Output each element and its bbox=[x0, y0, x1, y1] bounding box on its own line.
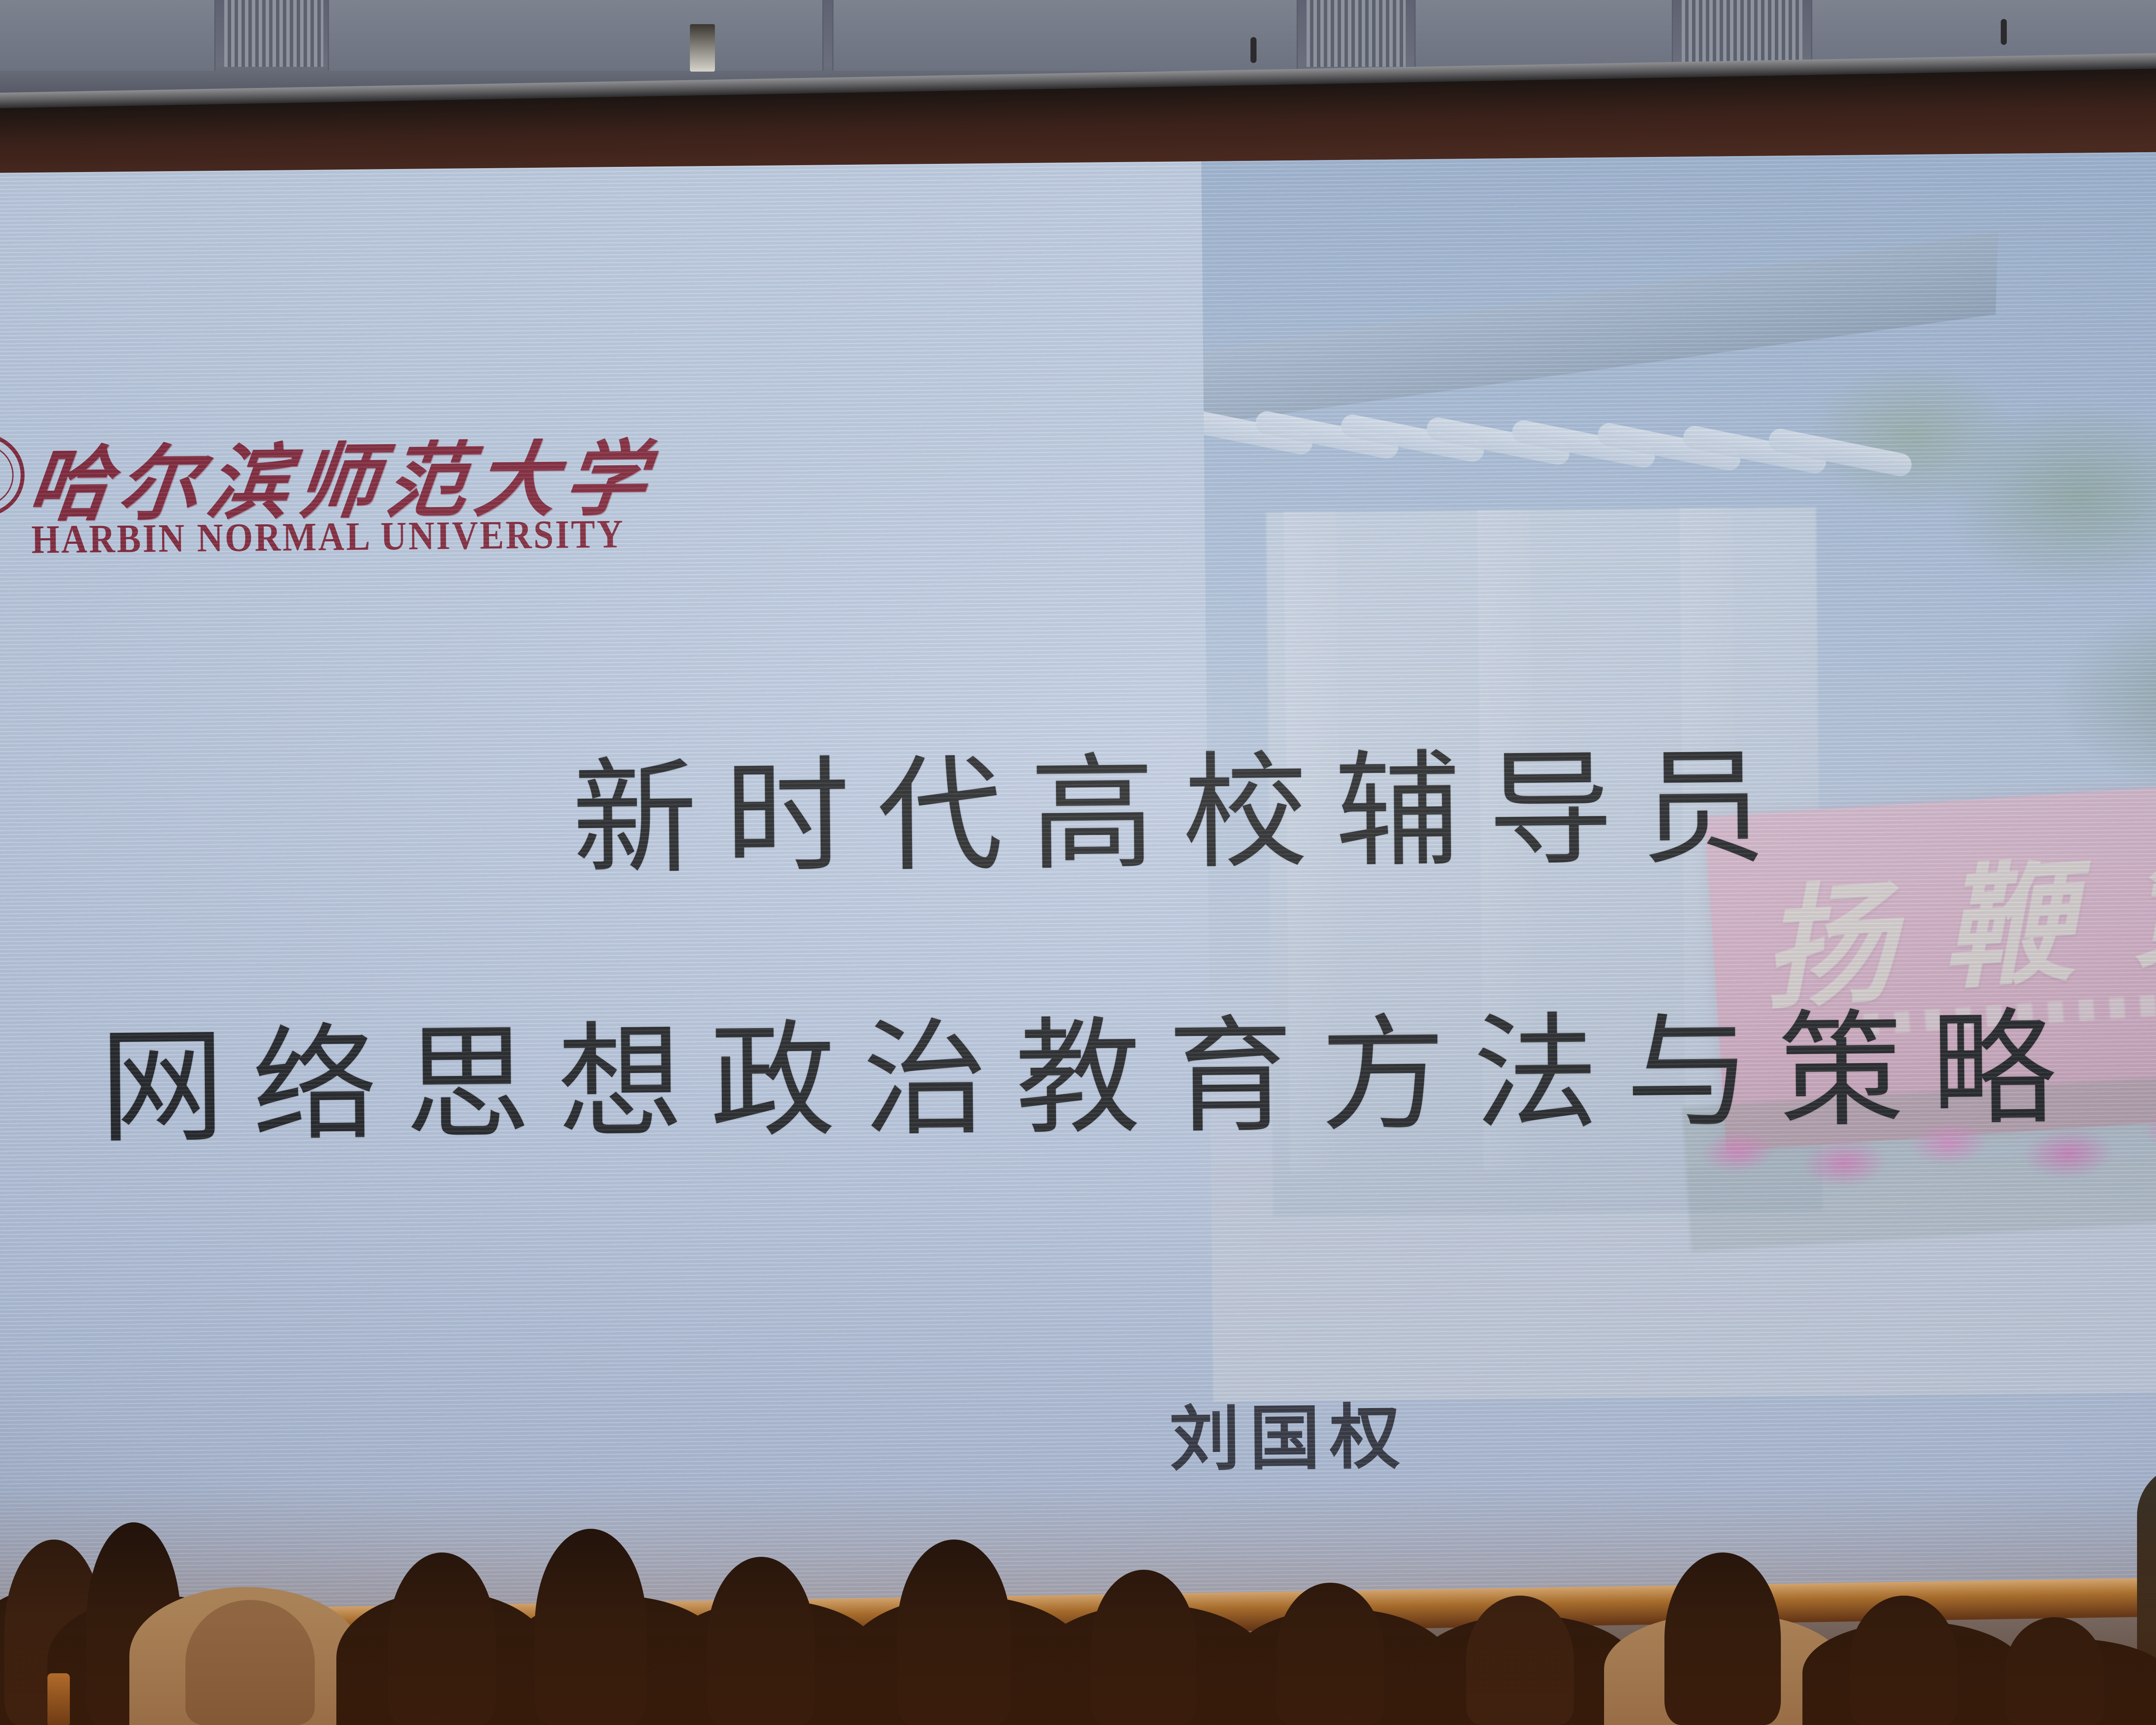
audience-head bbox=[1850, 1596, 1958, 1725]
ceiling-sprinkler-icon bbox=[2001, 19, 2007, 45]
water-bottle bbox=[47, 1673, 70, 1725]
auditorium-scene: 扬 鞭 策 奋 蹄 哈尔滨师范大学 HARBIN NORMAL UNIVERSI… bbox=[0, 0, 2156, 1725]
audience-head bbox=[1276, 1583, 1384, 1725]
audience-head bbox=[897, 1540, 1011, 1725]
projection-screen: 扬 鞭 策 奋 蹄 哈尔滨师范大学 HARBIN NORMAL UNIVERSI… bbox=[0, 148, 2156, 1669]
audience-head bbox=[185, 1600, 315, 1725]
audience-row bbox=[0, 1518, 2156, 1725]
audience-head bbox=[535, 1529, 647, 1725]
audience-head bbox=[707, 1557, 815, 1725]
slide-title-line-1: 新时代高校辅导员 bbox=[571, 745, 1793, 882]
wall-glyph: 策 bbox=[2123, 799, 2156, 998]
audience-head bbox=[1091, 1570, 1197, 1725]
slide-presenter-name: 刘国权 bbox=[1169, 1380, 1410, 1484]
logo-english-name: HARBIN NORMAL UNIVERSITY bbox=[31, 511, 625, 563]
audience-head bbox=[2005, 1617, 2104, 1725]
ceiling-sprinkler-icon bbox=[1250, 37, 1257, 63]
university-seal-icon bbox=[0, 433, 25, 517]
slide-title-line-2: 网络思想政治教育方法与策略 bbox=[99, 1006, 2084, 1151]
audience-head bbox=[388, 1552, 496, 1725]
audience-head bbox=[1466, 1596, 1574, 1725]
wall-glyph: 鞭 bbox=[1934, 815, 2078, 1015]
audience-head bbox=[1664, 1552, 1781, 1725]
university-logo: 哈尔滨师范大学 HARBIN NORMAL UNIVERSITY bbox=[0, 428, 933, 582]
ceiling-light-fixture bbox=[690, 24, 715, 72]
